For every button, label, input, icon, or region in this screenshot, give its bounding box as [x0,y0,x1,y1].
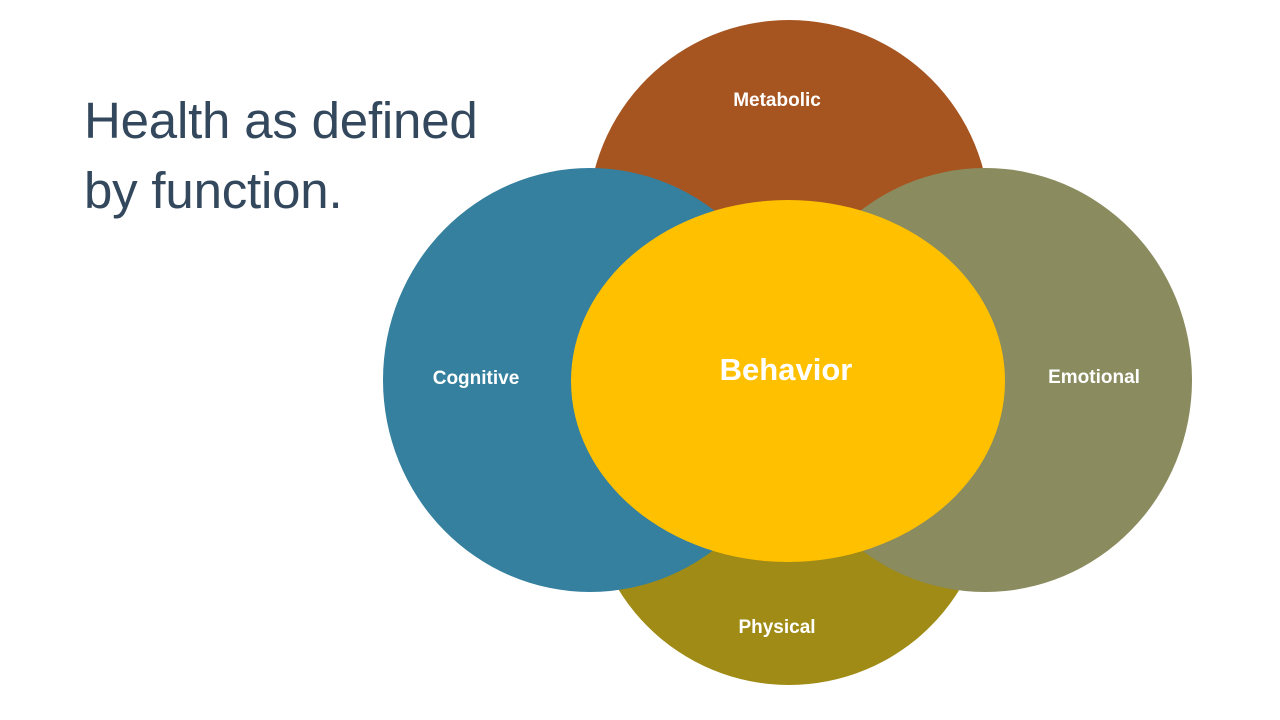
slide-canvas: Health as defined by function. Metabolic… [0,0,1280,720]
venn-center-behavior[interactable]: Behavior [571,200,1005,562]
physical-label: Physical [738,617,815,638]
metabolic-label: Metabolic [733,90,821,111]
venn-diagram: Metabolic Physical Cognitive Emotional B… [0,0,1280,720]
cognitive-label: Cognitive [433,368,520,389]
behavior-label: Behavior [720,352,853,387]
emotional-label: Emotional [1048,367,1140,388]
